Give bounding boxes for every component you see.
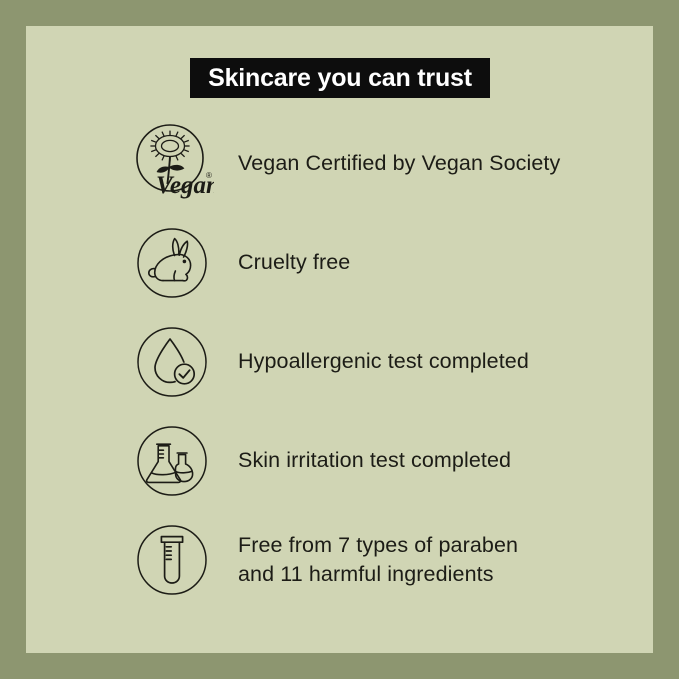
claims-list: Vegan ® Vegan Certified by Vegan Society [26,114,653,609]
water-droplet-check-icon [130,320,214,404]
claim-label-cruelty-free: Cruelty free [238,248,653,276]
rabbit-icon [130,221,214,305]
page-title: Skincare you can trust [208,66,472,91]
claim-row-skin-irritation: Skin irritation test completed [26,411,653,510]
vegan-society-logo-icon: Vegan ® [130,122,214,206]
claim-row-cruelty-free: Cruelty free [26,213,653,312]
claim-row-hypoallergenic: Hypoallergenic test completed [26,312,653,411]
registered-trademark-icon: ® [206,171,212,180]
claim-label-line1: Vegan Certified by Vegan Society [238,151,560,175]
claim-row-free-from: Free from 7 types of paraben and 11 harm… [26,510,653,609]
claim-label-line1: Skin irritation test completed [238,448,511,472]
claim-label-line1: Hypoallergenic test completed [238,349,529,373]
claim-label-skin-irritation: Skin irritation test completed [238,446,653,474]
claim-label-vegan: Vegan Certified by Vegan Society [238,149,653,177]
claim-label-line2: and 11 harmful ingredients [238,560,653,588]
claim-label-line1: Free from 7 types of paraben [238,533,518,557]
title-banner: Skincare you can trust [190,58,490,98]
claim-label-hypoallergenic: Hypoallergenic test completed [238,347,653,375]
test-tube-icon [130,518,214,602]
claim-label-free-from: Free from 7 types of paraben and 11 harm… [238,531,653,588]
lab-flasks-icon [130,419,214,503]
skincare-trust-infographic: Skincare you can trust [0,0,679,679]
claim-label-line1: Cruelty free [238,250,350,274]
content-panel: Skincare you can trust [26,26,653,653]
claim-row-vegan: Vegan ® Vegan Certified by Vegan Society [26,114,653,213]
